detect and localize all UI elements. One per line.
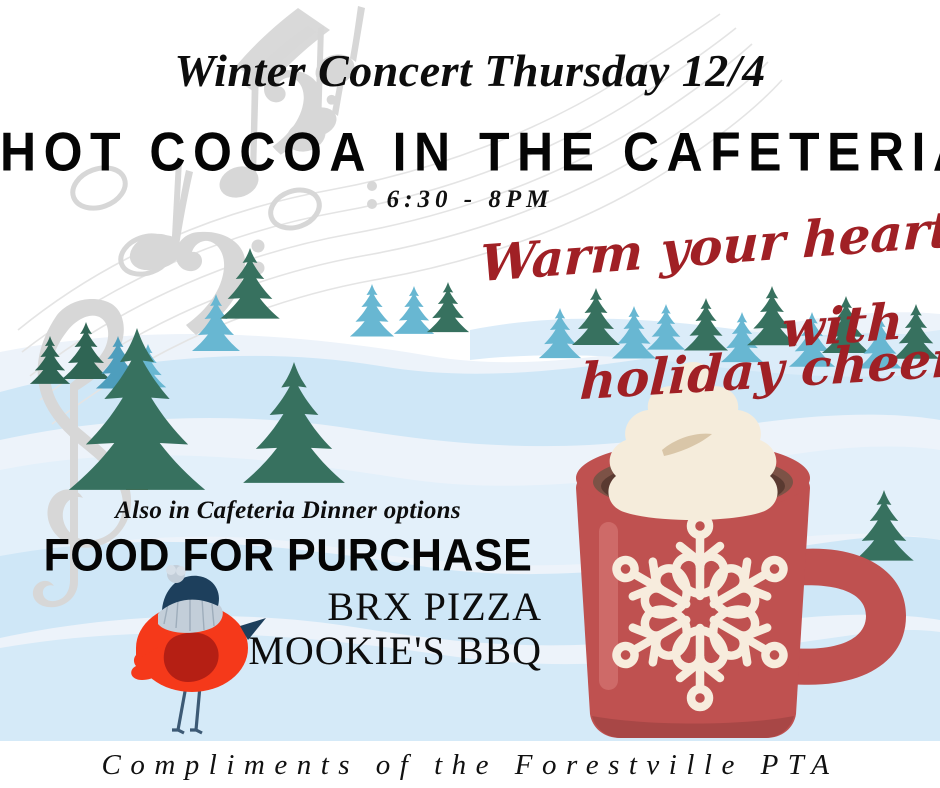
vendor-name-1: BRX PIZZA [8,583,568,630]
vendor-name-2: MOOKIE'S BBQ [8,627,568,674]
page-title: HOT COCOA IN THE CAFETERIA [0,120,940,184]
food-for-purchase-heading: FOOD FOR PURCHASE [8,530,568,582]
winter-concert-flyer: Winter Concert Thursday 12/4 HOT COCOA I… [0,0,940,788]
dinner-options-label: Also in Cafeteria Dinner options [8,497,568,525]
event-headline-script: Winter Concert Thursday 12/4 [0,44,940,97]
sponsor-credit: Compliments of the Forestville PTA [0,749,940,782]
